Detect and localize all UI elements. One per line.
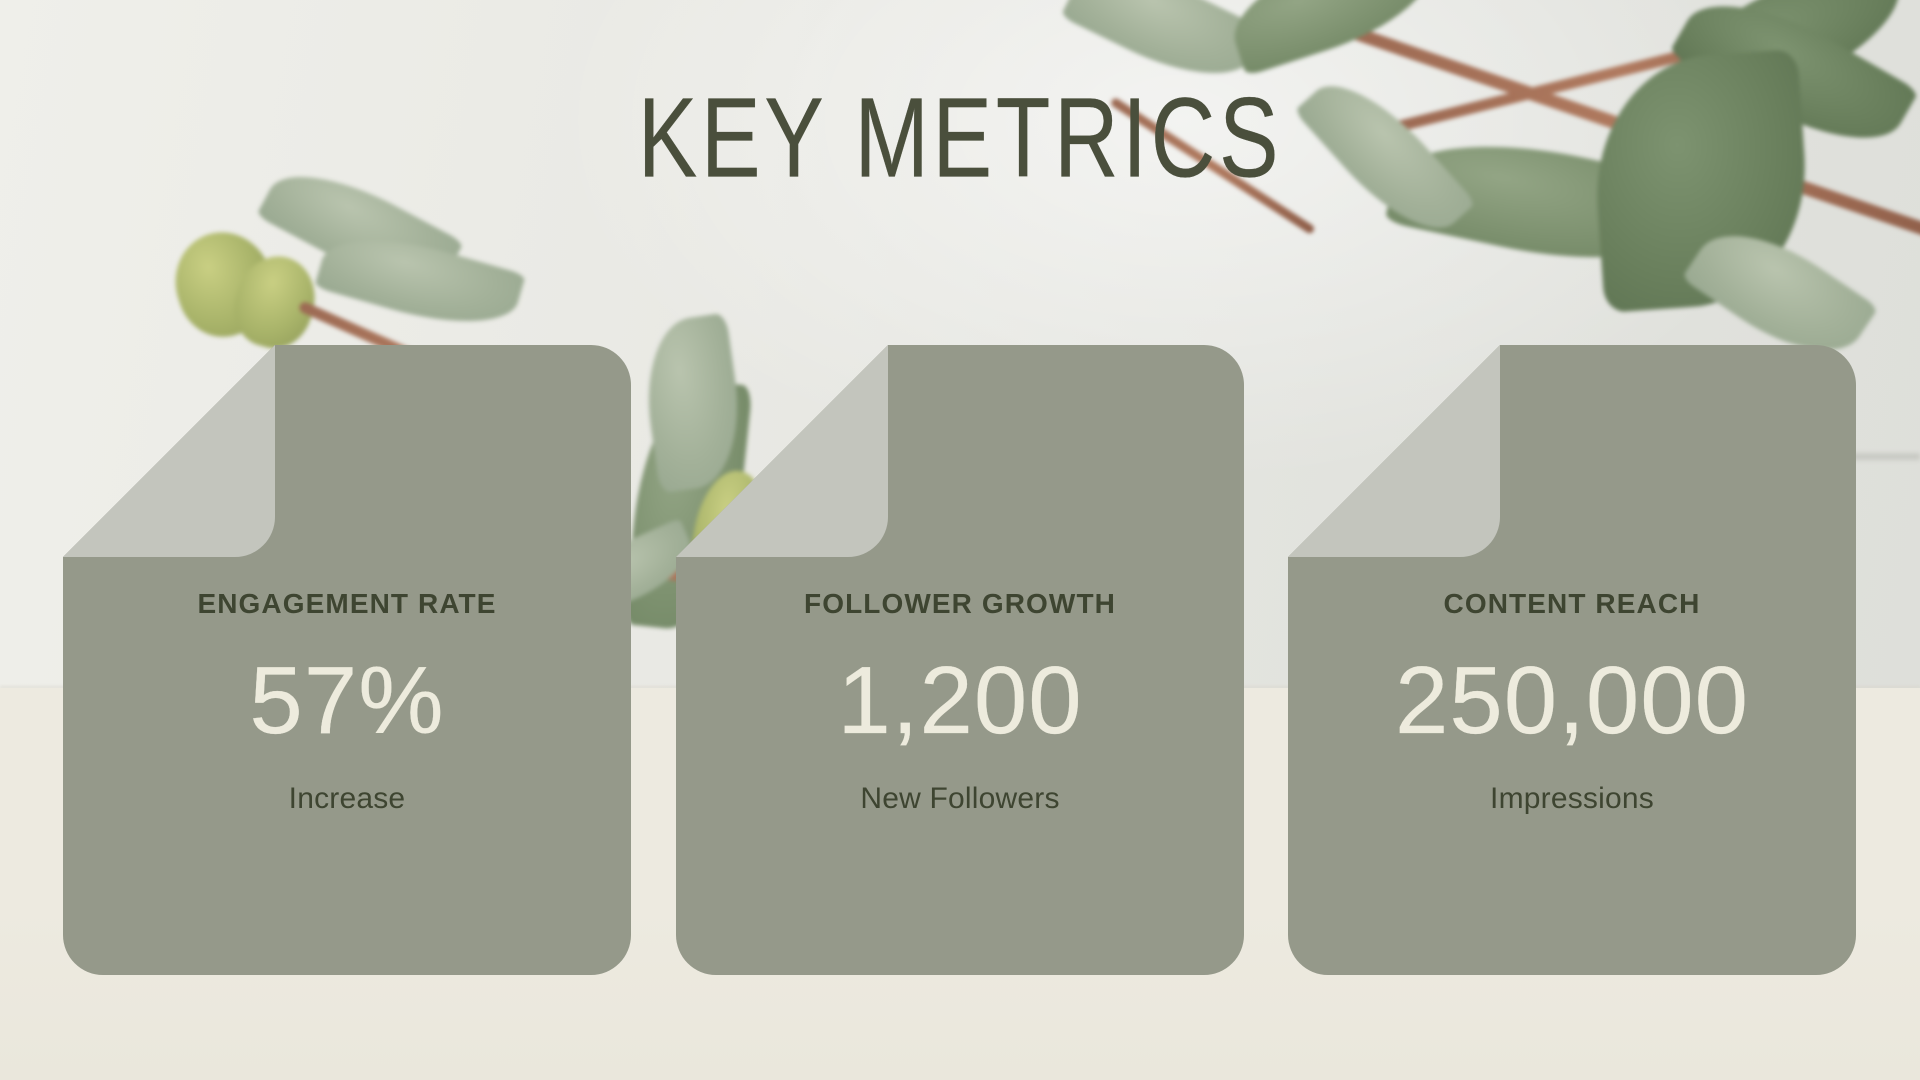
metric-card-content: CONTENT REACH 250,000 Impressions xyxy=(1288,590,1856,814)
metric-card[interactable]: CONTENT REACH 250,000 Impressions xyxy=(1288,345,1856,975)
metric-sublabel: New Followers xyxy=(704,784,1216,814)
metric-label: ENGAGEMENT RATE xyxy=(91,590,603,618)
metric-label: CONTENT REACH xyxy=(1316,590,1828,618)
slide-canvas: KEY METRICS ENGAGEMENT RATE 57% Increase xyxy=(0,0,1920,1080)
metric-card[interactable]: ENGAGEMENT RATE 57% Increase xyxy=(63,345,631,975)
metric-sublabel: Increase xyxy=(91,784,603,814)
metric-value: 250,000 xyxy=(1316,652,1828,750)
metric-cards: ENGAGEMENT RATE 57% Increase FOLLOWER GR… xyxy=(0,0,1920,1080)
metric-sublabel: Impressions xyxy=(1316,784,1828,814)
metric-label: FOLLOWER GROWTH xyxy=(704,590,1216,618)
metric-value: 1,200 xyxy=(704,652,1216,750)
metric-value: 57% xyxy=(91,652,603,750)
metric-card-content: ENGAGEMENT RATE 57% Increase xyxy=(63,590,631,814)
metric-card-content: FOLLOWER GROWTH 1,200 New Followers xyxy=(676,590,1244,814)
metric-card[interactable]: FOLLOWER GROWTH 1,200 New Followers xyxy=(676,345,1244,975)
